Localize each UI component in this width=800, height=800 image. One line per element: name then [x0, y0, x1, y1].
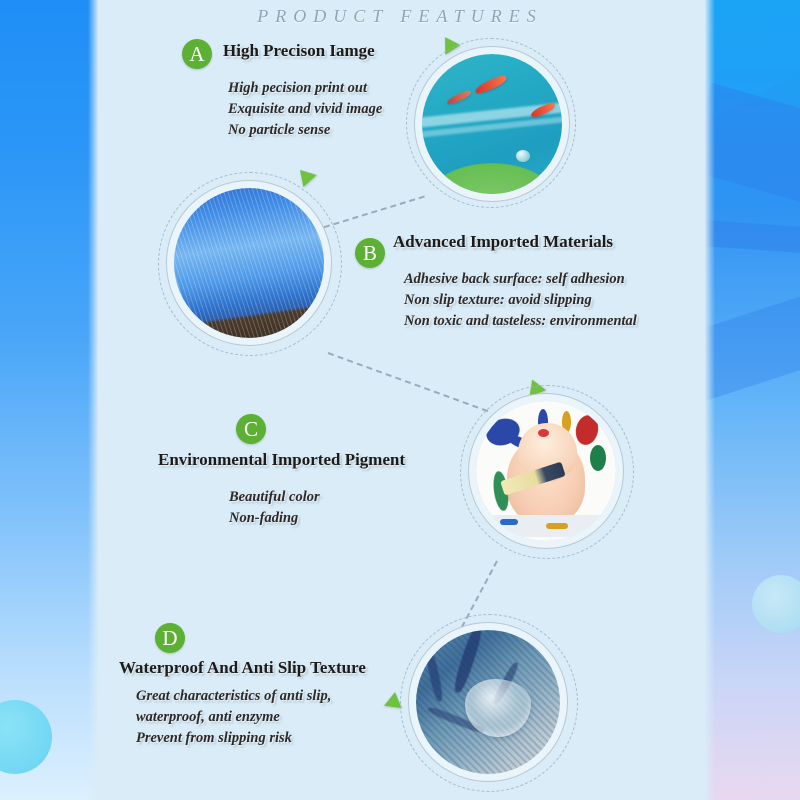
right-decorative-border: [705, 0, 800, 800]
page-title: PRODUCT FEATURES: [0, 6, 800, 27]
badge-d: D: [155, 623, 185, 653]
feature-c-line-1: Beautiful color: [229, 487, 320, 508]
feature-b-image: [174, 188, 324, 338]
baby-painting-photo: [476, 401, 616, 541]
fish-pond-print-photo: [422, 54, 562, 194]
feature-b-line-1: Adhesive back surface: self adhesion: [404, 269, 637, 290]
feature-a-heading: High Precison Iamge: [223, 41, 375, 61]
left-cyan-blob: [0, 700, 52, 774]
feature-d-line-3: Prevent from slipping risk: [136, 728, 331, 749]
feature-d-image: [416, 630, 560, 774]
feature-b-heading: Advanced Imported Materials: [393, 232, 613, 252]
water-droplet-texture-photo: [416, 630, 560, 774]
feature-a-image: [422, 54, 562, 194]
feature-d-heading: Waterproof And Anti Slip Texture: [119, 658, 366, 678]
feature-a-line-2: Exquisite and vivid image: [228, 99, 382, 120]
feature-b-line-3: Non toxic and tasteless: environmental: [404, 311, 637, 332]
left-soft-flower: [0, 0, 98, 200]
product-features-poster: PRODUCT FEATURES A High Precison Iamge H…: [0, 0, 800, 800]
feature-d-line-2: waterproof, anti enzyme: [136, 707, 331, 728]
badge-b: B: [355, 238, 385, 268]
left-cyan-flower: [0, 200, 98, 312]
feature-d-body: Great characteristics of anti slip, wate…: [136, 686, 331, 749]
left-decorative-border: [0, 0, 98, 800]
blue-shard-2: [705, 83, 800, 227]
feature-b-line-2: Non slip texture: avoid slipping: [404, 290, 637, 311]
feature-a-line-1: High pecision print out: [228, 78, 382, 99]
blue-shard-3: [705, 217, 800, 258]
badge-a: A: [182, 39, 212, 69]
connector-b-to-c: [328, 352, 488, 412]
badge-c: C: [236, 414, 266, 444]
feature-b-body: Adhesive back surface: self adhesion Non…: [404, 269, 637, 332]
blue-shard-4: [705, 268, 800, 403]
right-pink-flower: [705, 400, 800, 540]
feature-a-line-3: No particle sense: [228, 120, 382, 141]
feature-c-body: Beautiful color Non-fading: [229, 487, 320, 529]
feature-c-line-2: Non-fading: [229, 508, 320, 529]
feature-c-image: [476, 401, 616, 541]
blue-fabric-material-photo: [174, 188, 324, 338]
feature-d-line-1: Great characteristics of anti slip,: [136, 686, 331, 707]
feature-c-heading: Environmental Imported Pigment: [158, 450, 405, 470]
arrow-to-circle-b: [293, 164, 316, 187]
feature-a-body: High pecision print out Exquisite and vi…: [228, 78, 382, 141]
